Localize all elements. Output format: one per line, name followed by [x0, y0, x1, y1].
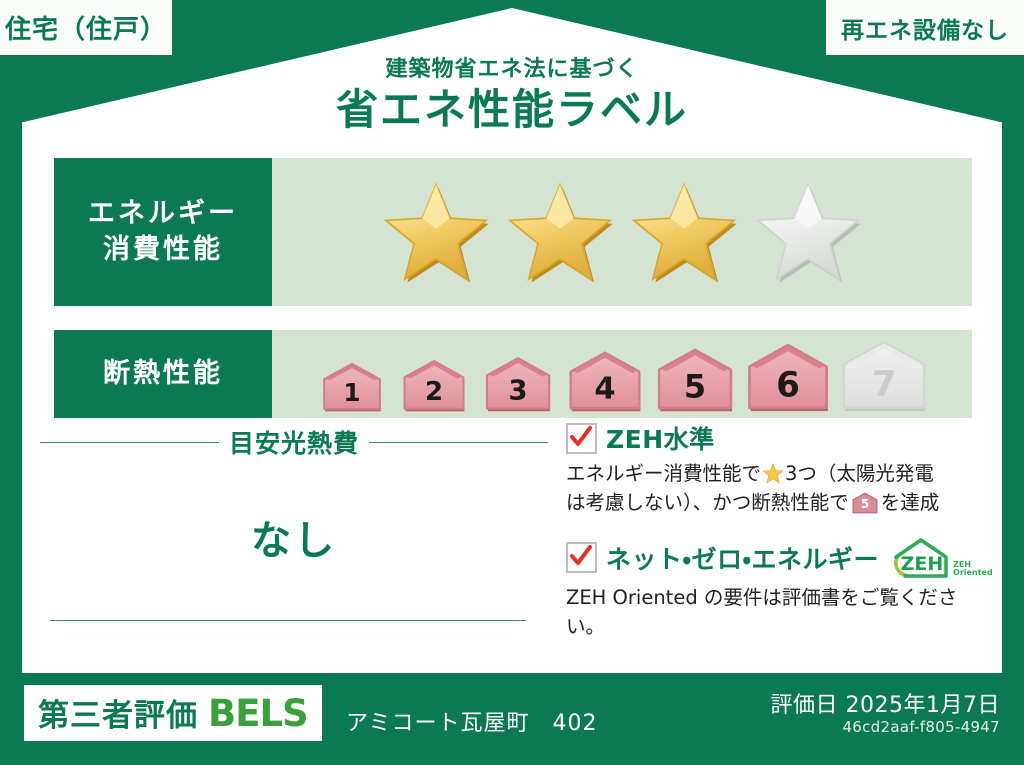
- heading-rule-left: [40, 442, 219, 443]
- title-main: 省エネ性能ラベル: [0, 84, 1024, 137]
- house-chip-number: 5: [684, 367, 706, 405]
- badge-dwelling-type: 住宅（住戸）: [0, 0, 172, 55]
- star-icon-filled: [505, 180, 615, 285]
- zeh-netzero-block: ネット・ゼロ・エネルギー ZEH ZEH Oriented ZEH Ori: [566, 536, 993, 642]
- house-chip-icon-filled: 2: [394, 357, 474, 412]
- star-icon-empty: [753, 180, 863, 285]
- zeh-desc-part3: を達成: [881, 491, 940, 514]
- zeh-standard-block: ZEH水準 エネルギー消費性能で3つ（太陽光発電 は考慮しない）、かつ断熱性能で…: [566, 420, 993, 518]
- metric-label-insulation: 断熱性能: [54, 330, 272, 418]
- zeh-desc-part1: エネルギー消費性能で: [566, 462, 761, 485]
- energy-performance-label: 住宅（住戸） 再エネ設備なし 建築物省エネ法に基づく 省エネ性能ラベル エネルギ…: [0, 0, 1024, 765]
- house-chip-number: 4: [594, 371, 615, 406]
- zeh-logo-sub-line2: Oriented: [953, 569, 993, 577]
- metric-value-insulation: 1234567: [272, 330, 972, 418]
- evaluation-date: 評価日 2025年1月7日: [771, 687, 1000, 719]
- utility-cost-value: なし: [40, 508, 548, 566]
- check-icon: [569, 544, 593, 568]
- badge-renewable-equipment: 再エネ設備なし: [826, 0, 1024, 55]
- house-chip-icon-filled: 5: [651, 345, 739, 412]
- house-chip-icon: 5: [852, 492, 878, 514]
- insulation-level-scale: 1234567: [313, 337, 931, 412]
- zeh-desc-part2: は考慮しない）、かつ断熱性能で: [566, 491, 849, 514]
- zeh-desc-star-count: 3つ（太陽光発電: [785, 462, 934, 485]
- zeh-netzero-title: ネット・ゼロ・エネルギー: [606, 540, 879, 576]
- panel-utility-cost: 目安光熱費 なし: [40, 420, 548, 650]
- page-title: 建築物省エネ法に基づく 省エネ性能ラベル: [0, 58, 1024, 137]
- metric-row-energy: エネルギー 消費性能: [54, 158, 972, 306]
- zeh-netzero-checkbox[interactable]: [566, 542, 597, 573]
- zeh-standard-title: ZEH水準: [606, 420, 715, 456]
- bels-jp-label: 第三者評価: [38, 690, 198, 735]
- house-chip-icon-empty: 7: [837, 337, 931, 412]
- house-chip-icon-filled: 6: [742, 340, 834, 412]
- house-chip-number: 6: [776, 365, 800, 405]
- metric-label-insulation-line1: 断熱性能: [103, 356, 223, 392]
- star-icon: [762, 463, 784, 484]
- zeh-standard-checkbox[interactable]: [566, 423, 597, 454]
- metric-label-energy-line1: エネルギー: [88, 196, 238, 232]
- bels-plate: 第三者評価 BELS: [24, 685, 322, 741]
- footer: 第三者評価 BELS アミコート瓦屋町 402 評価日 2025年1月7日 46…: [0, 673, 1024, 765]
- house-chip-number: 2: [425, 377, 443, 407]
- star-rating: [381, 180, 863, 285]
- star-icon-filled: [629, 180, 739, 285]
- zeh-logo-text: ZEH: [901, 553, 944, 575]
- badge-dwelling-label: 住宅（住戸）: [5, 9, 167, 46]
- utility-cost-bottom-rule: [50, 620, 526, 621]
- metric-row-insulation: 断熱性能 1234567: [54, 330, 972, 418]
- house-chip-number: 7: [872, 363, 897, 404]
- heading-rule-right: [369, 442, 548, 443]
- metric-label-energy: エネルギー 消費性能: [54, 158, 272, 306]
- metric-value-energy: [272, 158, 972, 306]
- zeh-oriented-logo: ZEH ZEH Oriented: [892, 536, 993, 580]
- house-chip-icon-filled: 1: [313, 360, 391, 412]
- star-icon-filled: [381, 180, 491, 285]
- building-name: アミコート瓦屋町 402: [346, 705, 598, 737]
- check-icon: [569, 425, 593, 449]
- title-subtitle: 建築物省エネ法に基づく: [0, 58, 1024, 82]
- house-chip-icon-filled: 3: [477, 354, 559, 412]
- panel-zeh: ZEH水準 エネルギー消費性能で3つ（太陽光発電 は考慮しない）、かつ断熱性能で…: [548, 420, 993, 650]
- metric-label-energy-line2: 消費性能: [103, 232, 223, 268]
- evaluation-id: 46cd2aaf-f805-4947: [842, 718, 1000, 736]
- house-chip-number: 5: [861, 497, 869, 511]
- zeh-standard-header: ZEH水準: [566, 420, 993, 456]
- bels-en-label: BELS: [208, 692, 308, 735]
- badge-renewable-label: 再エネ設備なし: [841, 11, 1009, 45]
- zeh-netzero-description: ZEH Oriented の要件は評価書をご覧ください。: [566, 584, 966, 642]
- bottom-section: 目安光熱費 なし ZEH水準 エネルギー消費性能で3つ（太陽光発電: [40, 420, 984, 650]
- house-chip-number: 3: [508, 373, 527, 406]
- house-chip-icon-filled: 4: [562, 348, 648, 412]
- utility-cost-heading: 目安光熱費: [40, 424, 548, 460]
- zeh-netzero-header: ネット・ゼロ・エネルギー ZEH ZEH Oriented: [566, 536, 993, 580]
- house-chip-number: 1: [343, 377, 360, 406]
- utility-cost-heading-label: 目安光熱費: [229, 424, 359, 460]
- zeh-standard-description: エネルギー消費性能で3つ（太陽光発電 は考慮しない）、かつ断熱性能で5を達成: [566, 460, 993, 518]
- zeh-house-logo-icon: ZEH: [892, 536, 950, 580]
